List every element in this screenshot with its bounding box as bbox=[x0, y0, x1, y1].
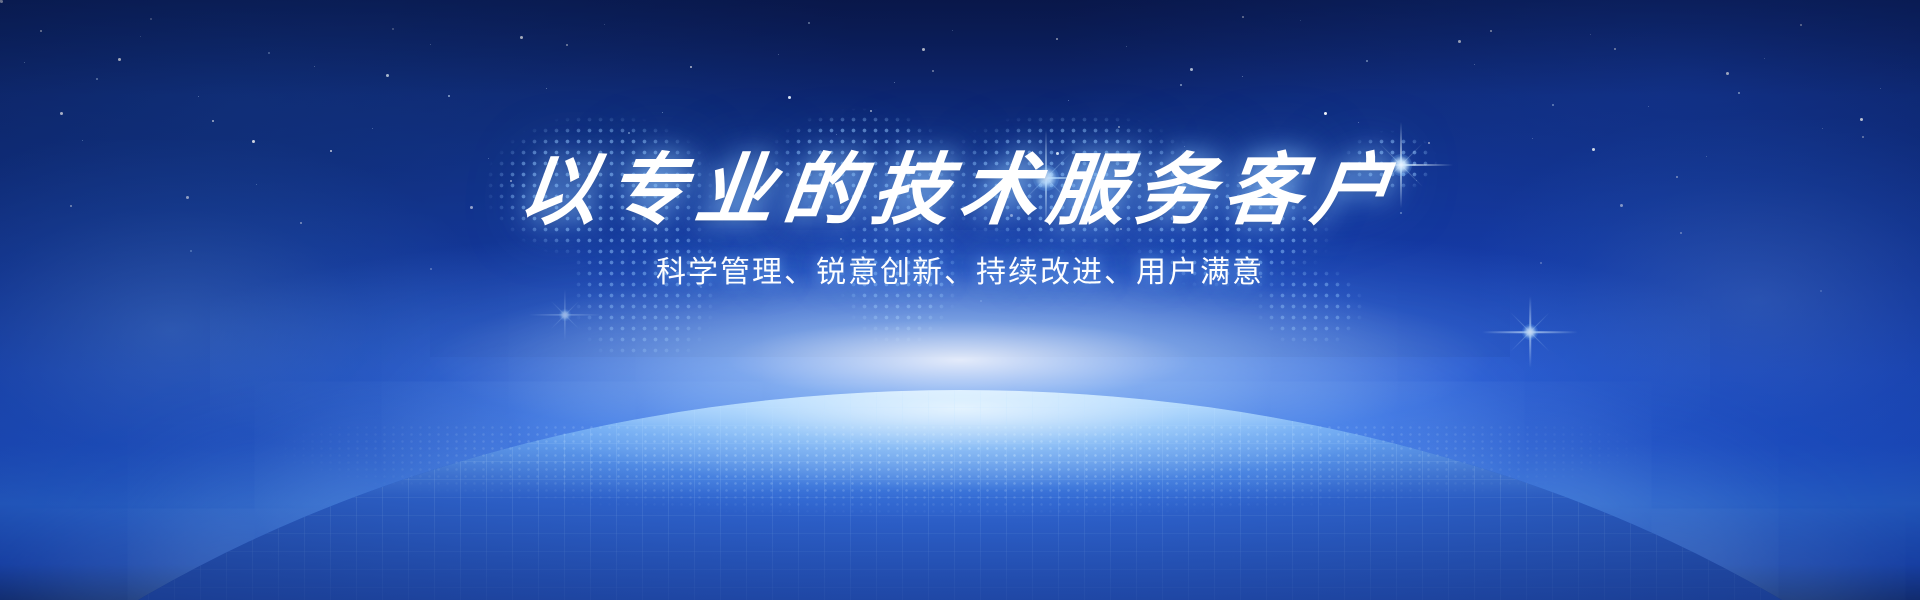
hero-banner: 以专业的技术服务客户 科学管理、锐意创新、持续改进、用户满意 bbox=[0, 0, 1920, 600]
nebula-haze-right bbox=[1480, 120, 1920, 480]
nebula-haze-left bbox=[0, 140, 480, 520]
banner-subline: 科学管理、锐意创新、持续改进、用户满意 bbox=[656, 258, 1264, 288]
planet-grid-overlay bbox=[0, 390, 1920, 600]
banner-headline: 以专业的技术服务客户 bbox=[515, 152, 1405, 230]
